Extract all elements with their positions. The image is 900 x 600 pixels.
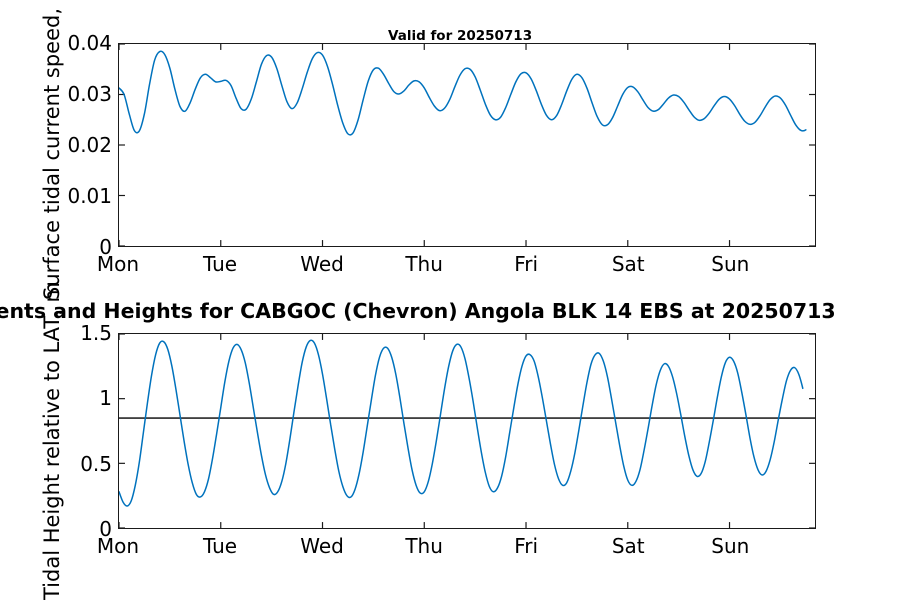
- x-tick-label: Fri: [514, 252, 538, 276]
- x-tick-label: Tue: [203, 252, 237, 276]
- data-line-surface-tidal-current-speed: [119, 51, 806, 135]
- x-tick-label: Mon: [97, 534, 139, 558]
- y-tick-label: 1: [99, 386, 112, 410]
- x-tick-label: Wed: [300, 534, 344, 558]
- x-tick-label: Sun: [711, 534, 749, 558]
- x-tick-label: Wed: [300, 252, 344, 276]
- y-tick-label: 0.03: [67, 82, 112, 106]
- x-tick-label: Sat: [612, 252, 645, 276]
- y-tick-label: 0.02: [67, 133, 112, 157]
- x-tick-label: Fri: [514, 534, 538, 558]
- current-speed-plot-svg: [119, 44, 815, 246]
- x-tick-label: Thu: [405, 534, 443, 558]
- x-tick-label: Sun: [711, 252, 749, 276]
- data-line-tidal-height-relative-to-lat: [119, 340, 803, 506]
- chart-title-top: Valid for 20250713: [388, 28, 532, 44]
- y-tick-labels-top: 00.010.020.030.04: [2, 43, 112, 247]
- plot-area-current-speed: [118, 43, 816, 247]
- x-tick-labels-top: MonTueWedThuFriSatSun: [118, 252, 816, 282]
- x-tick-label: Mon: [97, 252, 139, 276]
- y-tick-label: 0.01: [67, 184, 112, 208]
- y-tick-label: 0.04: [67, 31, 112, 55]
- plot-area-tidal-height: [118, 333, 816, 529]
- x-tick-labels-bottom: MonTueWedThuFriSatSun: [118, 534, 816, 564]
- y-tick-labels-bottom: 00.511.5: [2, 333, 112, 529]
- page-title: Tidal Currents and Heights for CABGOC (C…: [0, 299, 836, 323]
- y-tick-label: 1.5: [80, 321, 112, 345]
- tidal-height-plot-svg: [119, 334, 815, 528]
- x-tick-label: Sat: [612, 534, 645, 558]
- figure-canvas: Surface tidal current speed, kn Valid fo…: [0, 0, 900, 600]
- y-tick-label: 0.5: [80, 452, 112, 476]
- x-tick-label: Tue: [203, 534, 237, 558]
- x-tick-label: Thu: [405, 252, 443, 276]
